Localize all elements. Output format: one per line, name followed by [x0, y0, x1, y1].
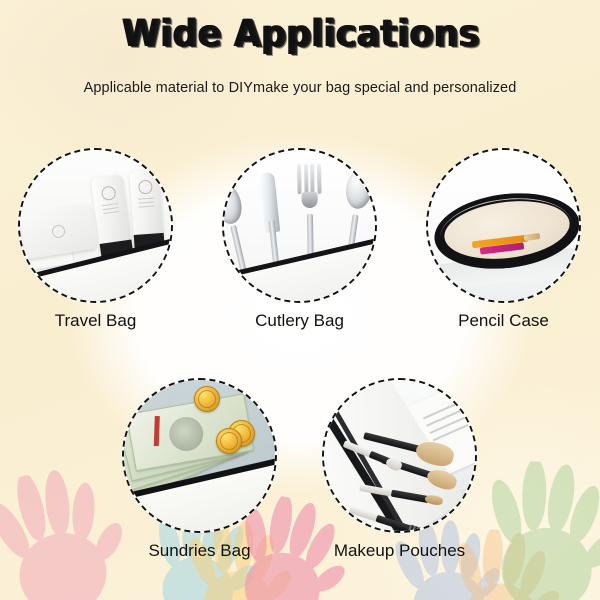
travel-bag-photo — [20, 150, 171, 301]
caption-makeup-pouches: Makeup Pouches — [334, 541, 465, 561]
cosmetic-tube-2 — [129, 169, 165, 251]
page-subtitle: Applicable material to DIYmake your bag … — [0, 80, 600, 96]
tile-travel-bag[interactable]: Travel Bag — [18, 148, 173, 303]
gold-coin-right-2 — [216, 428, 242, 454]
pencil-case-circle — [426, 148, 581, 303]
sundries-bag-photo — [124, 380, 275, 531]
cutlery-bag-circle — [222, 148, 377, 303]
caption-travel-bag: Travel Bag — [55, 311, 137, 331]
pencil-case-photo — [428, 150, 579, 301]
tile-cutlery-bag[interactable]: Cutlery Bag — [222, 148, 377, 303]
travel-bag-circle — [18, 148, 173, 303]
handprint-orange-right — [435, 526, 568, 600]
tile-sundries-bag[interactable]: Sundries Bag — [122, 378, 277, 533]
handprint-green-right — [467, 459, 600, 600]
page-title: Wide Applications — [21, 12, 579, 55]
infographic-page: Wide Applications Applicable material to… — [0, 0, 600, 600]
makeup-pouches-photo — [324, 380, 475, 531]
cutlery-bag-photo — [224, 150, 375, 301]
tile-makeup-pouches[interactable]: Makeup Pouches — [322, 378, 477, 533]
sundries-bag-circle — [122, 378, 277, 533]
caption-pencil-case: Pencil Case — [458, 311, 549, 331]
tile-pencil-case[interactable]: Pencil Case — [426, 148, 581, 303]
caption-cutlery-bag: Cutlery Bag — [255, 311, 344, 331]
caption-sundries-bag: Sundries Bag — [148, 541, 250, 561]
makeup-pouches-circle — [322, 378, 477, 533]
gold-coin-top — [194, 386, 220, 412]
